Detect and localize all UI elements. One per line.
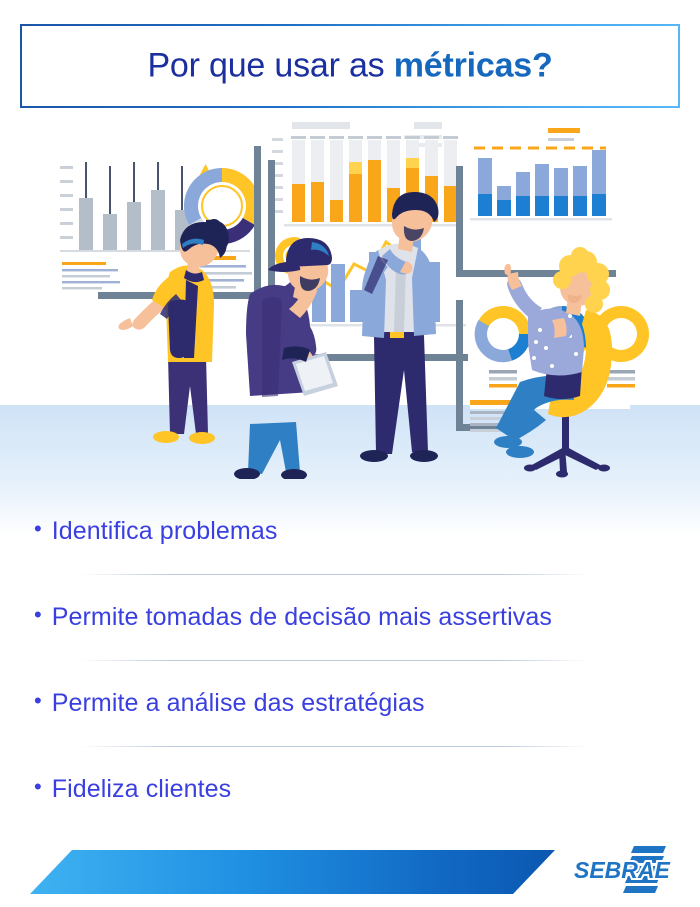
footer: SEBRAE — [0, 838, 700, 907]
sebrae-wordmark: SEBRAE — [574, 857, 671, 883]
chart-panel-center — [270, 114, 462, 240]
list-item: • Fideliza clientes — [0, 746, 700, 832]
list-item-label: Identifica problemas — [52, 517, 278, 546]
chart-panel-right-top — [460, 122, 620, 228]
page-title: Por que usar as métricas? — [20, 47, 680, 86]
bullet-marker-icon: • — [34, 776, 42, 798]
footer-accent-bar — [30, 850, 555, 894]
infographic-page: Por que usar as métricas? — [0, 0, 700, 907]
bullet-marker-icon: • — [34, 518, 42, 540]
list-item-label: Permite a análise das estratégias — [52, 689, 425, 718]
list-item: • Permite a análise das estratégias — [0, 660, 700, 746]
page-title-plain: Por que usar as — [147, 47, 393, 85]
sebrae-logo: SEBRAE — [562, 842, 678, 902]
list-item-label: Permite tomadas de decisão mais assertiv… — [52, 603, 552, 632]
page-title-bold: métricas? — [394, 47, 553, 85]
bullet-marker-icon: • — [34, 604, 42, 626]
bullet-marker-icon: • — [34, 690, 42, 712]
hero-illustration — [0, 104, 700, 479]
list-item: • Permite tomadas de decisão mais assert… — [0, 574, 700, 660]
list-item-label: Fideliza clientes — [52, 775, 232, 804]
header-frame: Por que usar as métricas? — [20, 24, 680, 108]
list-item: • Identifica problemas — [0, 488, 700, 574]
benefits-list: • Identifica problemas • Permite tomadas… — [0, 488, 700, 832]
